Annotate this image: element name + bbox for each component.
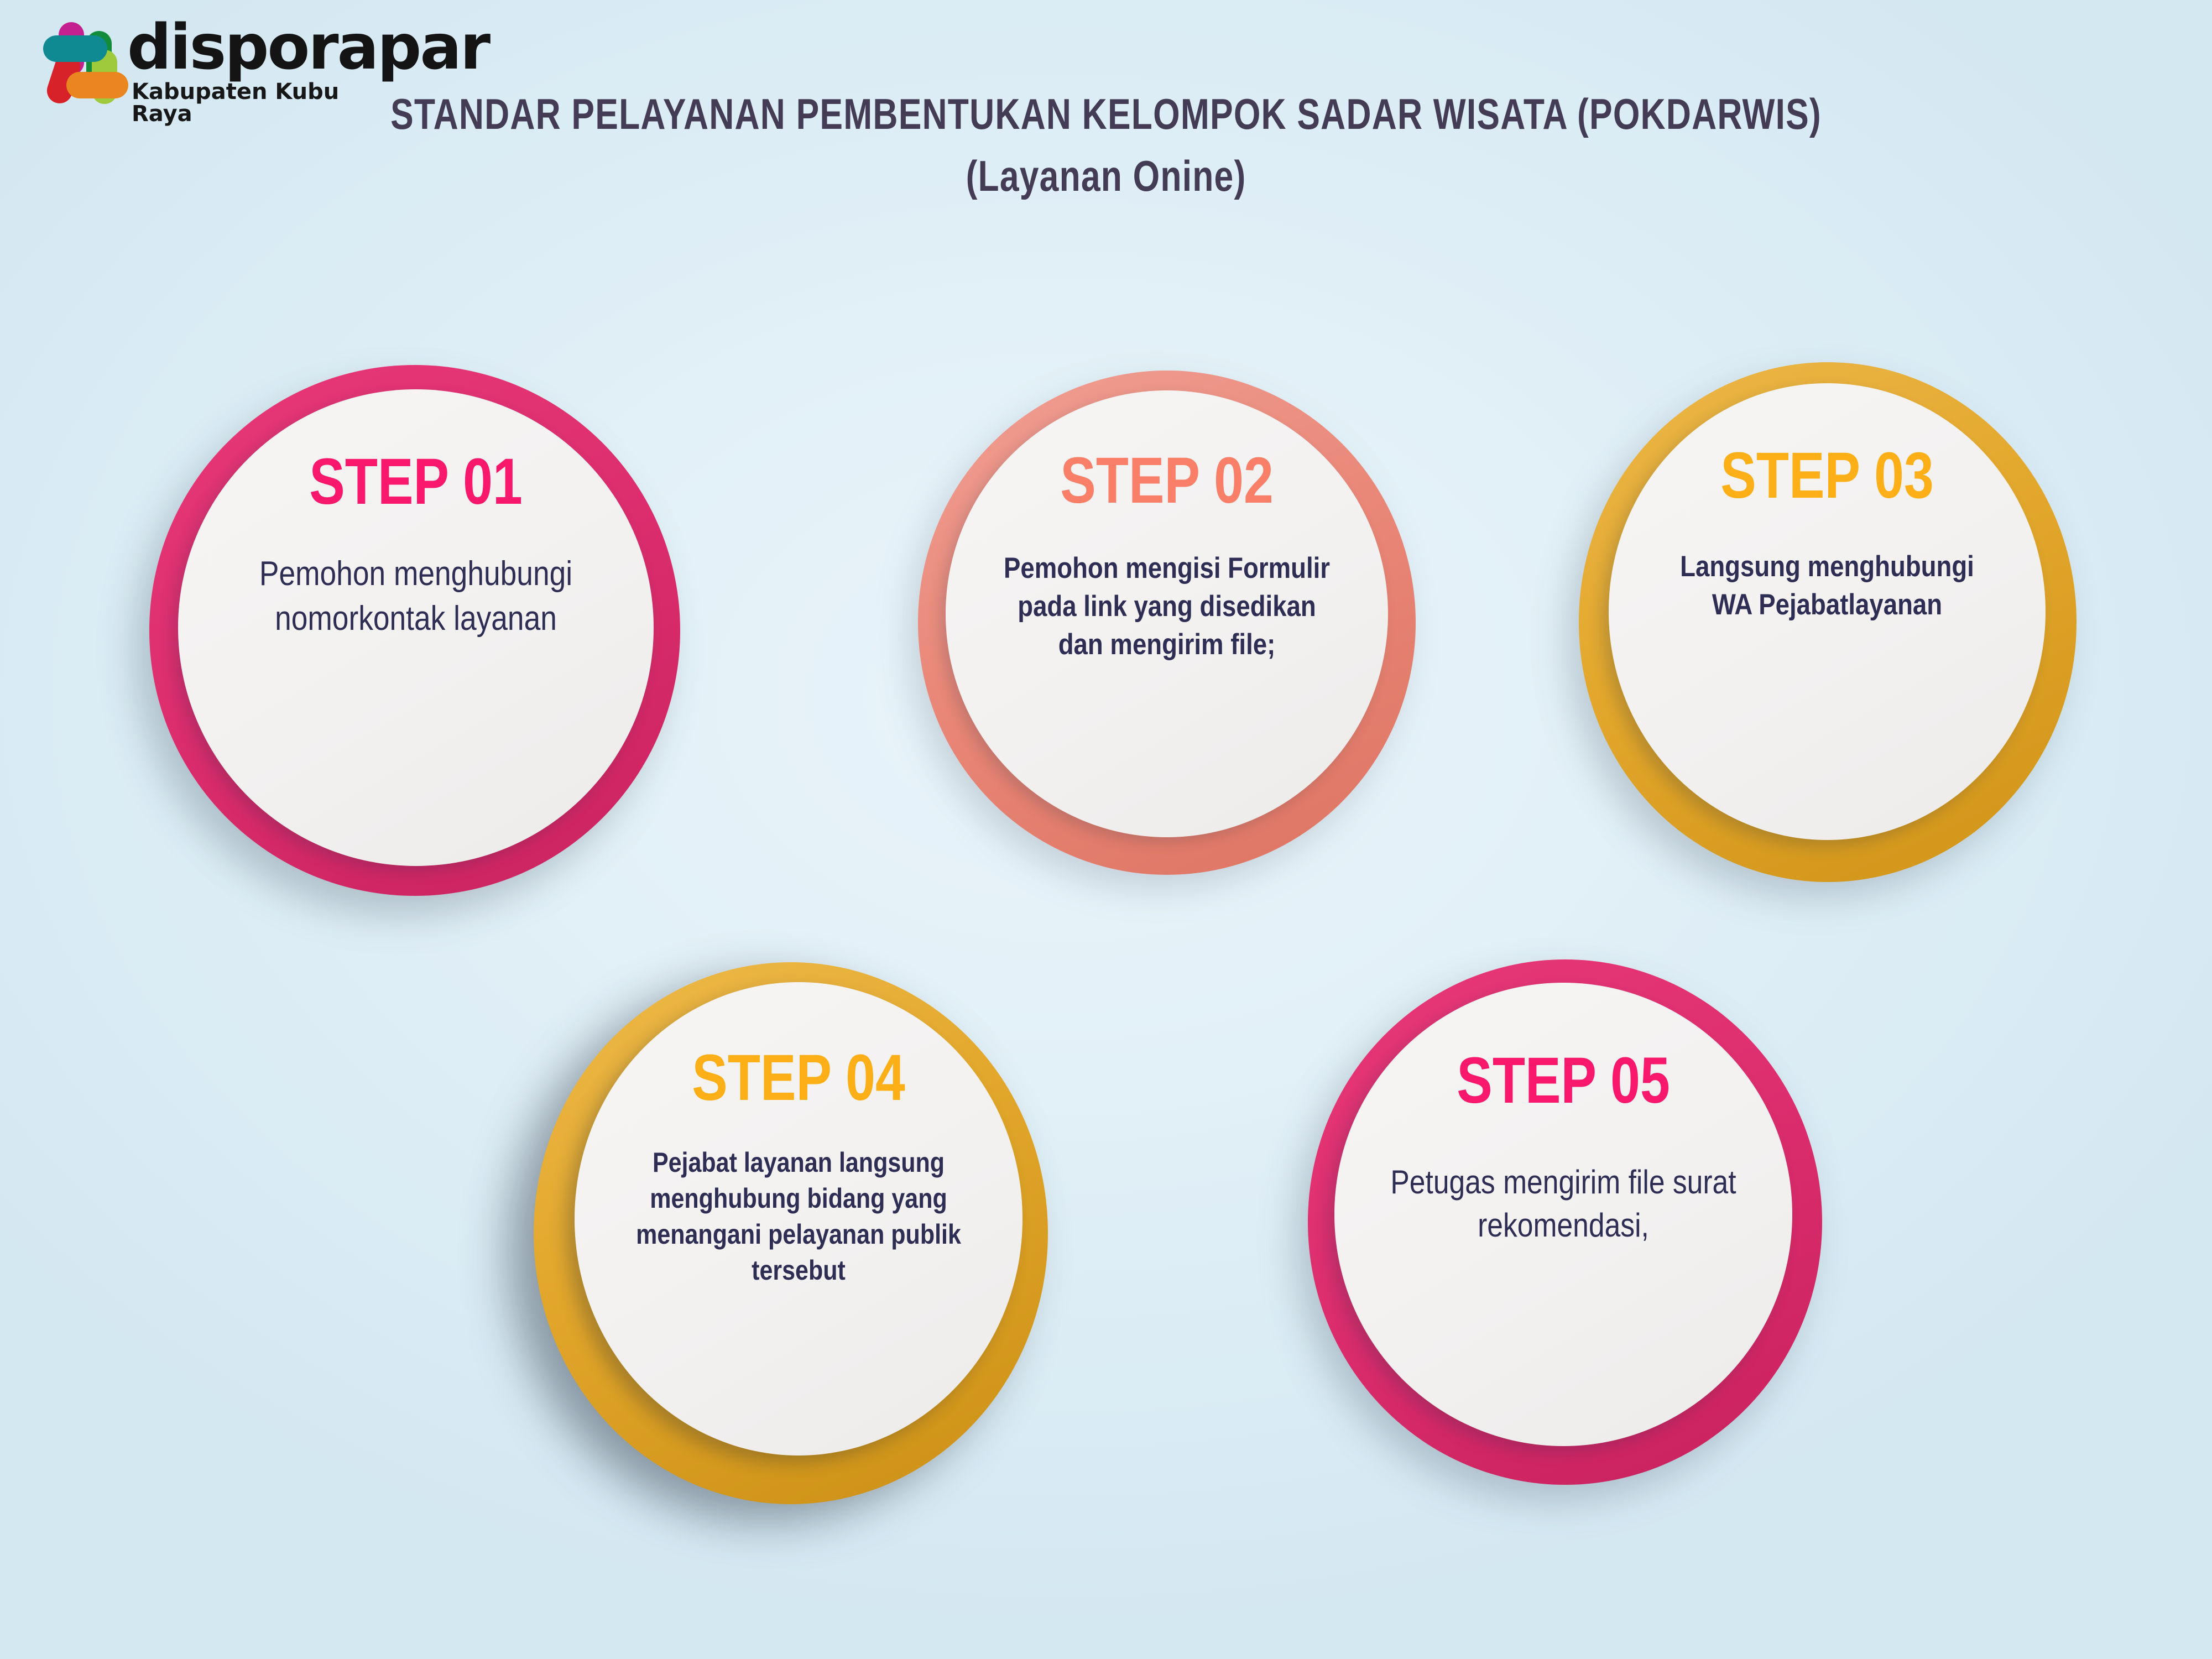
step-disc-03: STEP 03 Langsung menghubungi WA Pejabatl… <box>1609 383 2046 840</box>
step-disc-01: STEP 01 Pemohon menghubungi nomorkontak … <box>178 389 654 866</box>
step-body-05: Petugas mengirim file surat rekomendasi, <box>1383 1161 1744 1247</box>
page-subtitle: (Layanan Onine) <box>221 148 1991 204</box>
step-body-02: Pemohon mengisi Formulir pada link yang … <box>1000 550 1333 664</box>
step-label-03: STEP 03 <box>1720 443 1933 508</box>
step-label-05: STEP 05 <box>1457 1048 1670 1113</box>
step-circle-03[interactable]: STEP 03 Langsung menghubungi WA Pejabatl… <box>1579 362 2077 882</box>
step-body-03: Langsung menghubungi WA Pejabatlayanan <box>1663 548 1991 624</box>
step-disc-02: STEP 02 Pemohon mengisi Formulir pada li… <box>946 390 1388 837</box>
step-circle-01[interactable]: STEP 01 Pemohon menghubungi nomorkontak … <box>149 365 680 896</box>
step-disc-04: STEP 04 Pejabat layanan langsung menghub… <box>575 982 1022 1455</box>
step-circle-02[interactable]: STEP 02 Pemohon mengisi Formulir pada li… <box>918 371 1416 875</box>
page-title: STANDAR PELAYANAN PEMBENTUKAN KELOMPOK S… <box>221 88 1991 139</box>
step-label-02: STEP 02 <box>1060 448 1273 513</box>
page-title-block: STANDAR PELAYANAN PEMBENTUKAN KELOMPOK S… <box>0 88 2212 204</box>
step-label-01: STEP 01 <box>309 449 522 514</box>
infographic-canvas: disporapar Kabupaten Kubu Raya STANDAR P… <box>0 0 2212 1659</box>
step-body-01: Pemohon menghubungi nomorkontak layanan <box>235 552 597 641</box>
logo-wordmark: disporapar <box>127 17 489 79</box>
step-circle-05[interactable]: STEP 05 Petugas mengirim file surat reko… <box>1308 959 1822 1485</box>
step-disc-05: STEP 05 Petugas mengirim file surat reko… <box>1334 983 1792 1446</box>
step-label-04: STEP 04 <box>692 1045 905 1110</box>
step-circle-04[interactable]: STEP 04 Pejabat layanan langsung menghub… <box>534 962 1048 1504</box>
step-body-04: Pejabat layanan langsung menghubung bida… <box>632 1145 965 1288</box>
